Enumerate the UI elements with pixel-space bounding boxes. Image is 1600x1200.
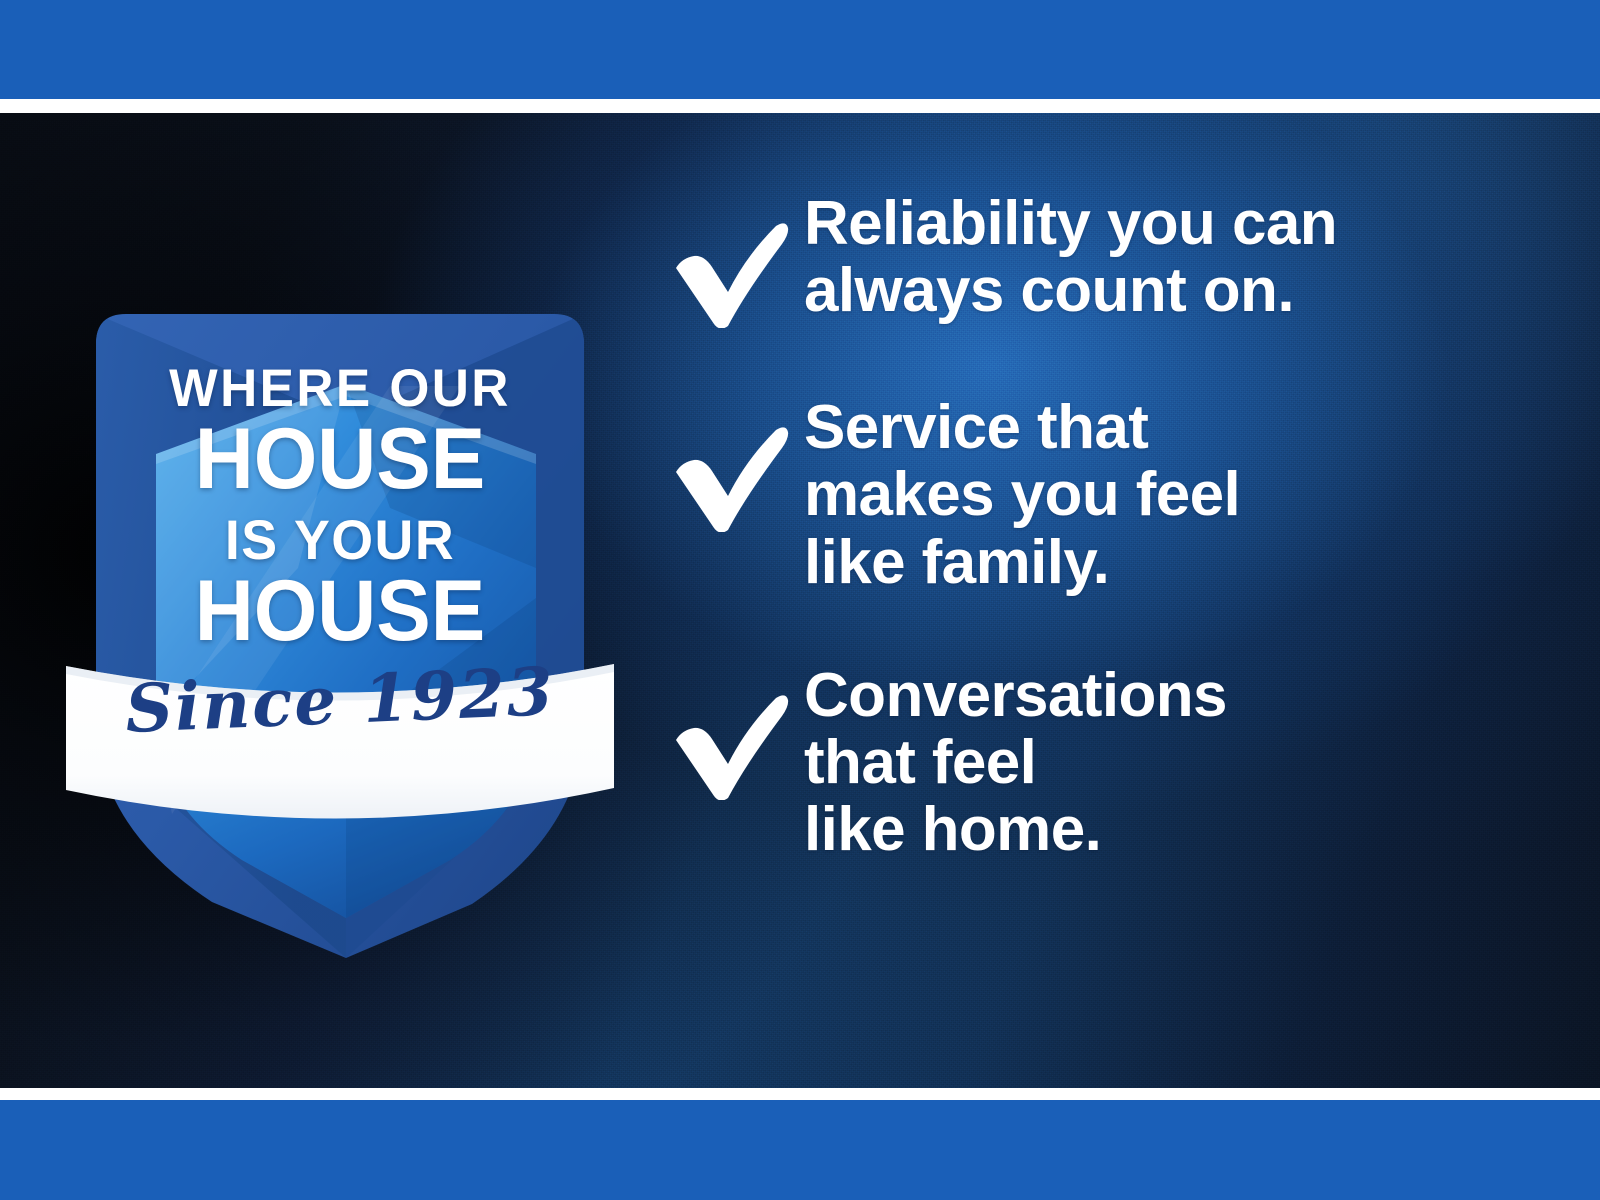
benefit-item-2: Service that makes you feel like family. [672,394,1552,596]
benefits-list: Reliability you can always count on. Ser… [672,190,1552,930]
checkmark-icon [672,662,804,800]
benefit-text-1: Reliability you can always count on. [804,190,1552,325]
benefit-item-1: Reliability you can always count on. [672,190,1552,328]
benefit-item-3: Conversations that feel like home. [672,662,1552,864]
checkmark-icon [672,190,804,328]
promo-graphic: WHERE OUR HOUSE IS YOUR HOUSE Since 1923… [0,0,1600,1200]
top-brand-bar [0,0,1600,99]
benefit-text-3: Conversations that feel like home. [804,662,1552,864]
checkmark-icon [672,394,804,532]
benefit-text-2: Service that makes you feel like family. [804,394,1552,596]
bottom-brand-bar [0,1100,1600,1200]
shield-badge: WHERE OUR HOUSE IS YOUR HOUSE Since 1923 [60,268,620,958]
